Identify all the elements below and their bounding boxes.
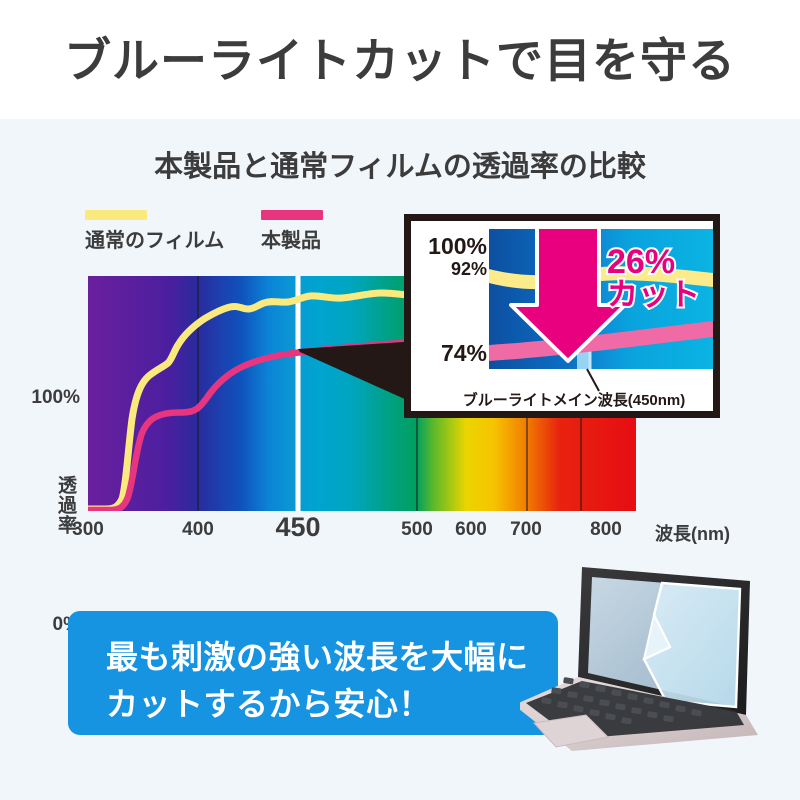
x-axis-label: 波長(nm) — [655, 520, 730, 546]
zoom-callout-box: 100% 92% 74% 26% カット ブルーライトメイン波長(450nm) — [404, 214, 720, 418]
x-tick-800: 800 — [576, 519, 636, 541]
x-tick-300: 300 — [58, 519, 118, 541]
callout-percent-74: 74% — [415, 340, 487, 367]
benefit-banner-line-2: カットするから安心！ — [106, 679, 431, 725]
page-header: ブルーライトカットで目を守る — [0, 0, 800, 119]
cut-value: 26% — [607, 245, 725, 279]
laptop-with-film-icon — [520, 555, 800, 800]
benefit-banner: 最も刺激の強い波長を大幅に カットするから安心！ — [68, 611, 558, 735]
cut-badge: 26% カット — [607, 245, 725, 312]
callout-percent-92: 92% — [415, 259, 487, 280]
callout-caption: ブルーライトメイン波長(450nm) — [431, 389, 717, 410]
x-tick-400: 400 — [168, 519, 228, 541]
x-tick-700: 700 — [496, 519, 556, 541]
callout-leader-line — [587, 369, 599, 391]
x-tick-600: 600 — [441, 519, 501, 541]
x-tick-450: 450 — [263, 512, 333, 543]
benefit-banner-line-1: 最も刺激の強い波長を大幅に — [106, 632, 529, 678]
callout-percent-100: 100% — [415, 233, 487, 260]
x-tick-500: 500 — [387, 519, 447, 541]
page-title: ブルーライトカットで目を守る — [0, 22, 800, 91]
cut-unit: カット — [607, 279, 725, 312]
